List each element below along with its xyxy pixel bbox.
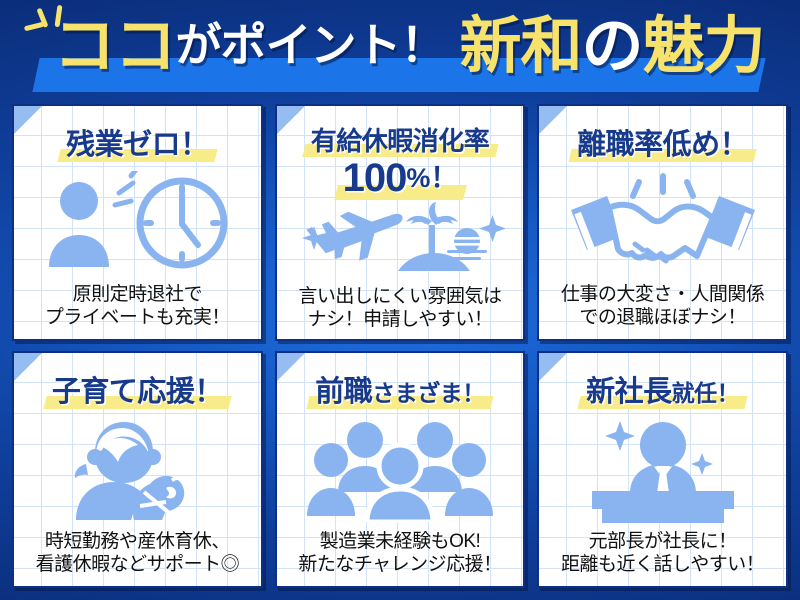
handshake-icon	[563, 170, 763, 276]
title-brand: 新和	[459, 8, 581, 86]
airplane-island-icon	[295, 201, 505, 285]
card-caption: 元部長が社長に！ 距離も近く話しやすい！	[561, 530, 764, 582]
person-clock-icon	[39, 171, 235, 275]
card-headline: 子育て応援！	[20, 359, 255, 410]
caption-line: 距離も近く話しやすい！	[561, 553, 764, 576]
caption-line: 製造業未経験もOK!	[298, 530, 501, 553]
caption-line: ナシ！申請しやすい！	[298, 308, 501, 331]
benefit-card-childcare-support[interactable]: 子育て応援！	[12, 351, 263, 588]
benefit-card-varied-backgrounds[interactable]: 前職さまざま！	[275, 351, 526, 588]
card-headline-main: 前職	[315, 376, 372, 408]
benefit-card-new-president[interactable]: 新社長就任！ 元部長が社長に！ 距離も近く話しやすい！	[537, 351, 788, 588]
caption-line: 仕事の大変さ・人間関係	[561, 283, 765, 306]
title-brand-tail: 魅力	[643, 8, 765, 86]
card-icon-area	[545, 410, 780, 530]
title-lead: ココ	[53, 8, 175, 86]
caption-line: 看護休暇などサポート◎	[36, 553, 240, 576]
card-headline-line: 子育て応援！	[52, 376, 223, 408]
card-icon-area	[283, 201, 518, 285]
card-icon-area	[283, 410, 518, 530]
card-headline: 前職さまざま！	[283, 359, 518, 410]
card-headline-line: 有給休暇消化率	[311, 126, 490, 156]
card-headline-sub: さまざま！	[372, 380, 485, 406]
people-group-icon	[307, 418, 493, 522]
card-headline: 離職率低め！	[545, 112, 780, 163]
caption-line: 時短勤務や産休育休、	[36, 530, 240, 553]
card-icon-area	[20, 163, 255, 283]
card-headline: 新社長就任！	[545, 359, 780, 410]
card-caption: 製造業未経験もOK! 新たなチャレンジ応援！	[298, 530, 501, 582]
card-caption: 原則定時退社で プライベートも充実！	[45, 283, 230, 335]
page-title: ココがポイント！ 新和の魅力	[0, 8, 800, 86]
benefit-card-no-overtime[interactable]: 残業ゼロ！	[12, 104, 263, 341]
mother-baby-icon	[62, 416, 212, 524]
card-headline-number-suffix: %！	[406, 163, 457, 193]
card-headline: 有給休暇消化率 100%！	[283, 112, 518, 201]
benefits-grid: 残業ゼロ！	[12, 104, 788, 588]
card-headline-main: 新社長	[586, 376, 672, 408]
card-caption: 時短勤務や産休育休、 看護休暇などサポート◎	[36, 530, 240, 582]
caption-line: 原則定時退社で	[45, 283, 230, 306]
card-headline-line: 残業ゼロ！	[66, 129, 209, 161]
caption-line: での退職ほぼナシ！	[561, 306, 765, 329]
card-icon-area	[20, 410, 255, 530]
card-caption: 言い出しにくい雰囲気は ナシ！申請しやすい！	[298, 285, 501, 337]
title-brand-particle: の	[582, 8, 643, 86]
caption-line: 元部長が社長に！	[561, 530, 764, 553]
poster-header: ココがポイント！ 新和の魅力	[0, 0, 800, 100]
president-podium-icon	[578, 417, 748, 523]
title-lead-sub: がポイント！	[175, 17, 445, 75]
caption-line: プライベートも充実！	[45, 306, 230, 329]
caption-line: 新たなチャレンジ応援！	[298, 553, 501, 576]
benefit-card-low-turnover[interactable]: 離職率低め！	[537, 104, 788, 341]
card-headline-number: 100	[343, 156, 407, 200]
benefit-card-paid-leave[interactable]: 有給休暇消化率 100%！	[275, 104, 526, 341]
card-icon-area	[545, 163, 780, 283]
card-headline: 残業ゼロ！	[20, 112, 255, 163]
card-headline-sub: 就任！	[672, 380, 740, 406]
card-headline-line: 離職率低め！	[577, 129, 748, 161]
caption-line: 言い出しにくい雰囲気は	[298, 285, 501, 308]
poster-root: ココがポイント！ 新和の魅力 残業ゼロ！	[0, 0, 800, 600]
card-caption: 仕事の大変さ・人間関係 での退職ほぼナシ！	[561, 283, 765, 335]
